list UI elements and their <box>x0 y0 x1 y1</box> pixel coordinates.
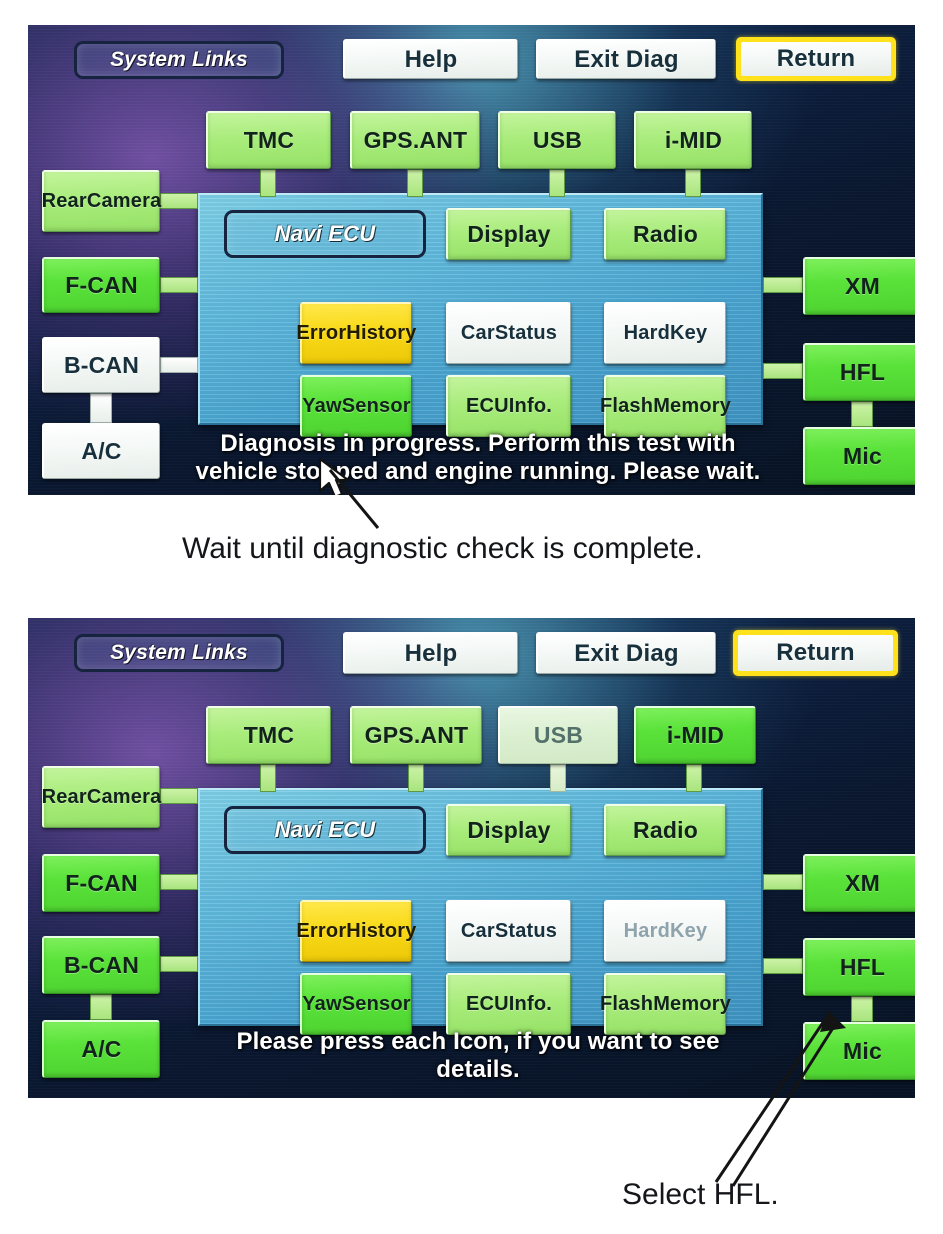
ac-button[interactable]: A/C <box>42 1020 160 1078</box>
i-mid-button[interactable]: i-MID <box>634 706 756 764</box>
return-button-label: Return <box>741 42 891 76</box>
f-can-button[interactable]: F-CAN <box>42 854 160 912</box>
connector-rear-camera <box>160 193 198 209</box>
mouse-cursor-icon <box>318 457 352 495</box>
usb-button[interactable]: USB <box>498 706 618 764</box>
status-message: Please press each Icon, if you want to s… <box>168 1028 788 1085</box>
status-line-1: Diagnosis in progress. Perform this test… <box>168 430 788 458</box>
wait-annotation: Wait until diagnostic check is complete. <box>182 532 703 566</box>
system-links-button[interactable]: System Links <box>74 634 284 672</box>
mic-button[interactable]: Mic <box>803 1022 915 1080</box>
connector-ac <box>90 393 112 423</box>
b-can-button[interactable]: B-CAN <box>42 936 160 994</box>
connector-b-can <box>160 357 198 373</box>
tmc-button[interactable]: TMC <box>206 111 331 169</box>
flash-memory-button[interactable]: FlashMemory <box>604 375 726 437</box>
ecu-info-button[interactable]: ECUInfo. <box>446 375 571 437</box>
yaw-sensor-button[interactable]: YawSensor <box>300 375 412 437</box>
hfl-button[interactable]: HFL <box>803 343 915 401</box>
connector-ac <box>90 994 112 1020</box>
i-mid-button[interactable]: i-MID <box>634 111 752 169</box>
connector-f-can <box>160 277 198 293</box>
display-button[interactable]: Display <box>446 804 571 856</box>
connector-xm <box>763 277 803 293</box>
connector-f-can <box>160 874 198 890</box>
radio-button[interactable]: Radio <box>604 804 726 856</box>
diagnostic-screen-1: System Links Help Exit Diag Return TMC G… <box>28 25 915 495</box>
connector-usb <box>549 169 565 197</box>
help-button[interactable]: Help <box>343 39 518 79</box>
status-line-2: details. <box>168 1056 788 1084</box>
connector-rear-camera <box>160 788 198 804</box>
status-message: Diagnosis in progress. Perform this test… <box>168 430 788 487</box>
xm-button[interactable]: XM <box>803 257 915 315</box>
car-status-button[interactable]: CarStatus <box>446 900 571 962</box>
help-button[interactable]: Help <box>343 632 518 674</box>
b-can-button[interactable]: B-CAN <box>42 337 160 393</box>
gps-ant-button[interactable]: GPS.ANT <box>350 706 482 764</box>
xm-button[interactable]: XM <box>803 854 915 912</box>
flash-memory-button[interactable]: FlashMemory <box>604 973 726 1035</box>
connector-tmc <box>260 169 276 197</box>
radio-button[interactable]: Radio <box>604 208 726 260</box>
status-line-1: Please press each Icon, if you want to s… <box>168 1028 788 1056</box>
ecu-info-button[interactable]: ECUInfo. <box>446 973 571 1035</box>
mic-button[interactable]: Mic <box>803 427 915 485</box>
exit-diag-button[interactable]: Exit Diag <box>536 632 716 674</box>
connector-hfl <box>763 363 803 379</box>
system-links-button[interactable]: System Links <box>74 41 284 79</box>
error-history-button[interactable]: ErrorHistory <box>300 302 412 364</box>
connector-tmc <box>260 764 276 792</box>
gps-ant-button[interactable]: GPS.ANT <box>350 111 480 169</box>
connector-gps-ant <box>407 169 423 197</box>
connector-gps-ant <box>408 764 424 792</box>
tmc-button[interactable]: TMC <box>206 706 331 764</box>
rear-camera-button[interactable]: RearCamera <box>42 170 160 232</box>
connector-b-can <box>160 956 198 972</box>
connector-i-mid <box>685 169 701 197</box>
navi-ecu-button[interactable]: Navi ECU <box>224 210 426 258</box>
f-can-button[interactable]: F-CAN <box>42 257 160 313</box>
status-line-2: vehicle stopped and engine running. Plea… <box>168 458 788 486</box>
yaw-sensor-button[interactable]: YawSensor <box>300 973 412 1035</box>
navi-ecu-button[interactable]: Navi ECU <box>224 806 426 854</box>
return-button-label: Return <box>738 635 893 671</box>
connector-mic <box>851 996 873 1022</box>
select-hfl-annotation: Select HFL. <box>622 1178 779 1212</box>
connector-usb <box>550 764 566 792</box>
connector-i-mid <box>686 764 702 792</box>
return-button[interactable]: Return <box>736 37 896 81</box>
usb-button[interactable]: USB <box>498 111 616 169</box>
hard-key-button[interactable]: HardKey <box>604 900 726 962</box>
connector-mic <box>851 401 873 427</box>
connector-hfl <box>763 958 803 974</box>
display-button[interactable]: Display <box>446 208 571 260</box>
car-status-button[interactable]: CarStatus <box>446 302 571 364</box>
error-history-button[interactable]: ErrorHistory <box>300 900 412 962</box>
hard-key-button[interactable]: HardKey <box>604 302 726 364</box>
rear-camera-button[interactable]: RearCamera <box>42 766 160 828</box>
hfl-button[interactable]: HFL <box>803 938 915 996</box>
connector-xm <box>763 874 803 890</box>
ac-button[interactable]: A/C <box>42 423 160 479</box>
exit-diag-button[interactable]: Exit Diag <box>536 39 716 79</box>
return-button[interactable]: Return <box>733 630 898 676</box>
diagnostic-screen-2: System Links Help Exit Diag Return TMC G… <box>28 618 915 1098</box>
